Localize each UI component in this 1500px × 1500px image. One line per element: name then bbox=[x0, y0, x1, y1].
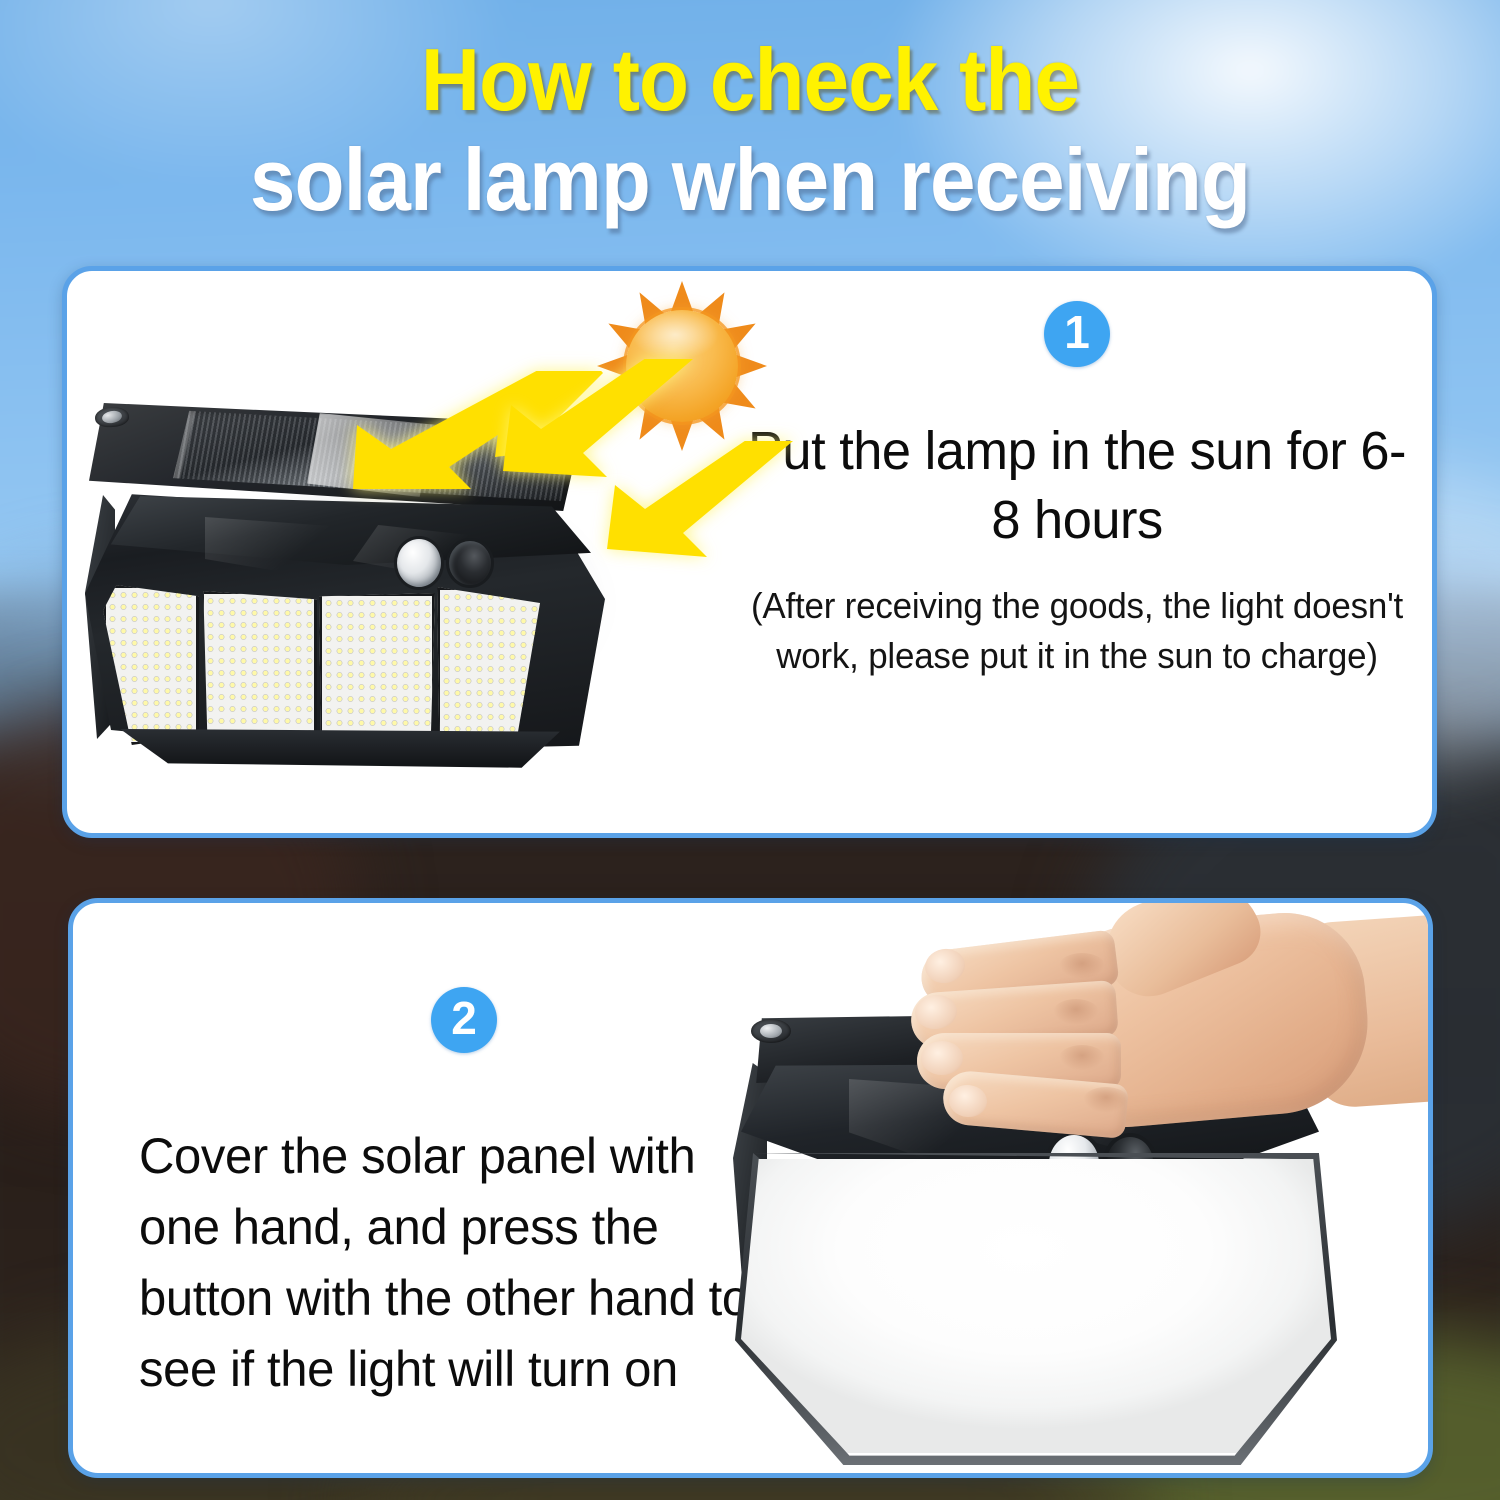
step-2-badge: 2 bbox=[431, 987, 497, 1053]
page-title: How to check the solar lamp when receivi… bbox=[0, 36, 1500, 224]
light-sensor-icon bbox=[449, 541, 491, 585]
step-1-note: (After receiving the goods, the light do… bbox=[738, 581, 1417, 680]
sunlight-arrow-icon bbox=[607, 441, 797, 561]
finger-knuckle bbox=[1059, 1045, 1105, 1071]
step-2-heading: Cover the solar panel with one hand, and… bbox=[139, 1121, 776, 1405]
title-line-1: How to check the bbox=[53, 36, 1448, 124]
pir-sensor-icon bbox=[397, 539, 441, 587]
fingernail bbox=[921, 1041, 963, 1075]
step-2-text-block: 2 Cover the solar panel with one hand, a… bbox=[139, 987, 789, 1405]
step-1-heading: Put the lamp in the sun for 6-8 hours bbox=[738, 417, 1417, 555]
finger-knuckle bbox=[1053, 999, 1099, 1025]
finger-knuckle bbox=[1083, 1087, 1129, 1113]
hand bbox=[887, 909, 1433, 1209]
step-1-card: 1 Put the lamp in the sun for 6-8 hours … bbox=[62, 266, 1437, 838]
finger-knuckle bbox=[1059, 953, 1105, 979]
mount-hole-icon bbox=[751, 1019, 791, 1043]
step-1-text-block: 1 Put the lamp in the sun for 6-8 hours … bbox=[727, 301, 1427, 681]
hand-covering-solar-panel-image bbox=[731, 913, 1431, 1478]
step-2-card: 2 Cover the solar panel with one hand, a… bbox=[68, 898, 1433, 1478]
step-1-badge: 1 bbox=[1044, 301, 1110, 367]
title-line-2: solar lamp when receiving bbox=[53, 136, 1448, 224]
